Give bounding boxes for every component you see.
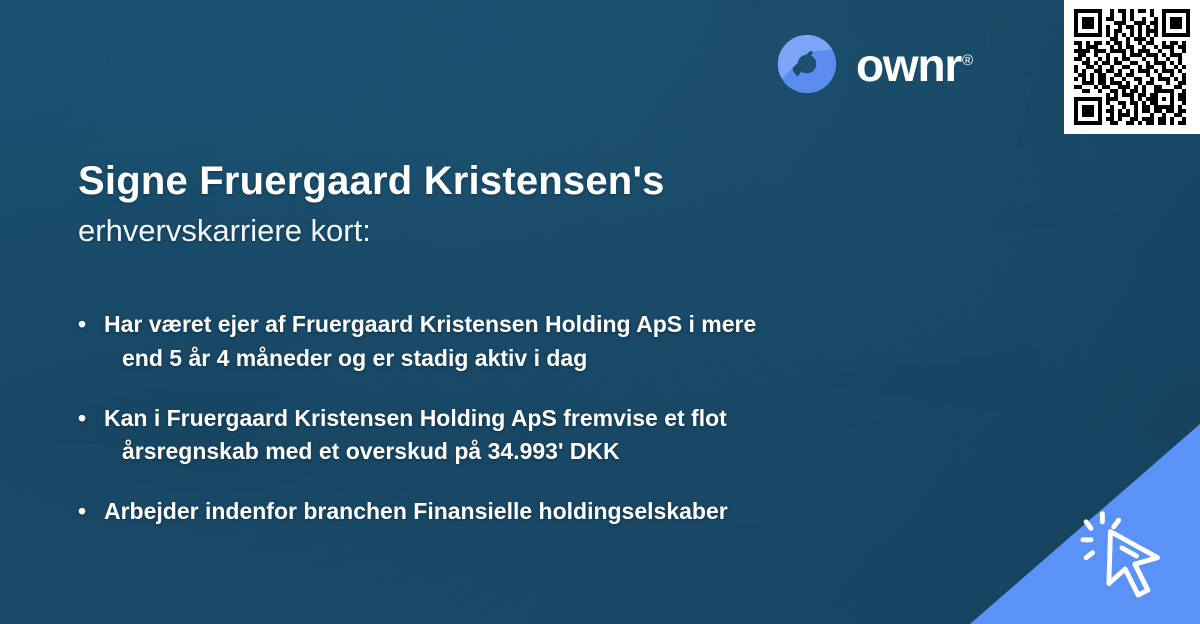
list-item-line2: end 5 år 4 måneder og er stadig aktiv i … (104, 342, 838, 376)
list-item-line2: årsregnskab med et overskud på 34.993' D… (104, 435, 838, 469)
ownr-logo[interactable]: ownr® (776, 33, 973, 95)
list-item: Arbejder indenfor branchen Finansielle h… (78, 495, 838, 529)
click-cursor-icon (1078, 504, 1182, 608)
qr-code (1073, 9, 1191, 125)
list-item-line1: Kan i Fruergaard Kristensen Holding ApS … (104, 405, 727, 431)
career-facts-list: Har været ejer af Fruergaard Kristensen … (78, 308, 918, 529)
list-item: Kan i Fruergaard Kristensen Holding ApS … (78, 402, 838, 470)
page-subtitle: erhvervskarriere kort: (78, 214, 371, 249)
list-item-line1: Har været ejer af Fruergaard Kristensen … (104, 311, 756, 337)
page-title: Signe Fruergaard Kristensen's (78, 160, 665, 202)
list-item: Har været ejer af Fruergaard Kristensen … (78, 308, 838, 376)
qr-code-panel[interactable] (1064, 0, 1200, 134)
ownr-circle-mark (776, 33, 838, 95)
ownr-wordmark: ownr® (856, 42, 973, 88)
registered-trademark-icon: ® (962, 52, 973, 69)
list-item-line1: Arbejder indenfor branchen Finansielle h… (104, 498, 728, 524)
career-card: ownr® (0, 0, 1200, 624)
